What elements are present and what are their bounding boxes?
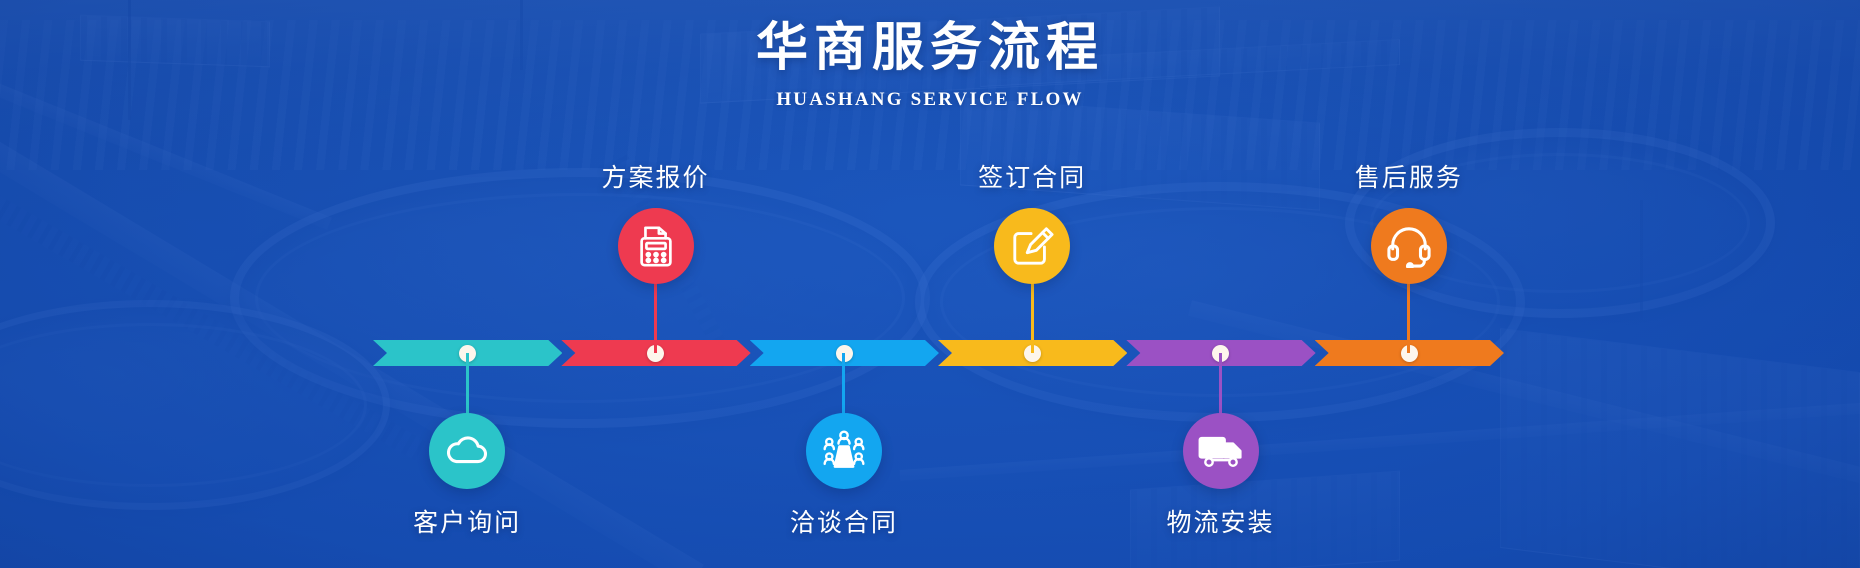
connector-stem-6 xyxy=(1407,282,1410,353)
connector-stem-2 xyxy=(654,282,657,353)
flow-step-3[interactable]: 洽谈合同 xyxy=(694,413,994,539)
sign-contract-pen-icon[interactable] xyxy=(994,208,1070,284)
page-subtitle: HUASHANG SERVICE FLOW xyxy=(0,89,1860,111)
flow-step-label-2: 方案报价 xyxy=(506,158,806,194)
cloud-icon[interactable] xyxy=(429,413,505,489)
flow-step-label-3: 洽谈合同 xyxy=(694,503,994,539)
calculator-receipt-icon[interactable] xyxy=(618,208,694,284)
flow-step-5[interactable]: 物流安装 xyxy=(1071,413,1371,539)
page-title: 华商服务流程 xyxy=(0,18,1860,79)
connector-stem-1 xyxy=(466,353,469,417)
flow-step-2[interactable]: 方案报价 xyxy=(506,158,806,284)
service-flow-banner: 华商服务流程 HUASHANG SERVICE FLOW 客户询问方案报价洽谈合… xyxy=(0,0,1860,568)
banner-heading: 华商服务流程 HUASHANG SERVICE FLOW xyxy=(0,18,1860,111)
flow-arrow-bar xyxy=(373,340,1503,366)
connector-stem-5 xyxy=(1219,353,1222,417)
connector-stem-4 xyxy=(1031,282,1034,353)
headset-support-icon[interactable] xyxy=(1371,208,1447,284)
flow-step-1[interactable]: 客户询问 xyxy=(317,413,617,539)
flow-step-6[interactable]: 售后服务 xyxy=(1259,158,1559,284)
flow-step-label-6: 售后服务 xyxy=(1259,158,1559,194)
flow-step-label-5: 物流安装 xyxy=(1071,503,1371,539)
connector-stem-3 xyxy=(842,353,845,417)
flow-step-4[interactable]: 签订合同 xyxy=(882,158,1182,284)
meeting-people-icon[interactable] xyxy=(806,413,882,489)
delivery-truck-icon[interactable] xyxy=(1183,413,1259,489)
flow-step-label-4: 签订合同 xyxy=(882,158,1182,194)
flow-step-label-1: 客户询问 xyxy=(317,503,617,539)
